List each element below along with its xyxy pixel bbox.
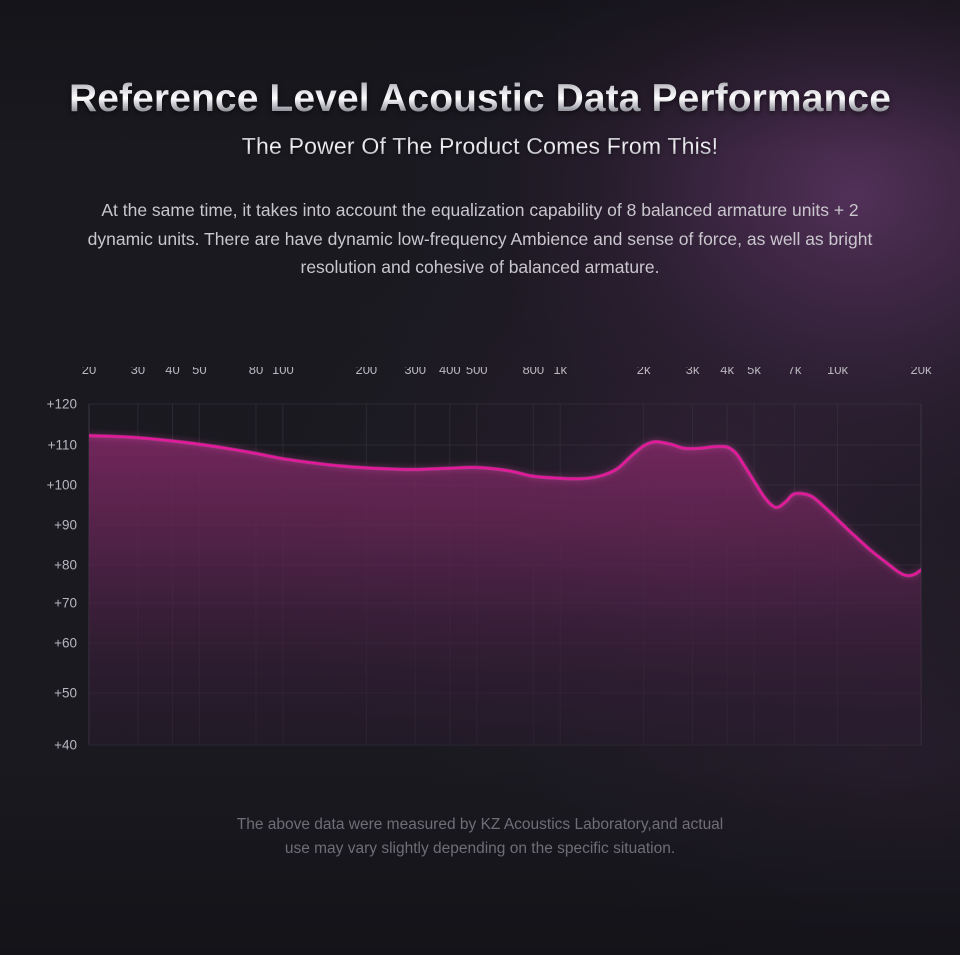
svg-text:+70: +70 xyxy=(54,596,77,611)
chart-svg: 20304050801002003004005008001k2k3k4k5k7k… xyxy=(0,367,960,767)
svg-text:400: 400 xyxy=(439,367,461,377)
page-title: Reference Level Acoustic Data Performanc… xyxy=(0,78,960,119)
footnote-line-2: use may vary slightly depending on the s… xyxy=(160,837,800,861)
svg-text:3k: 3k xyxy=(686,367,700,377)
svg-text:200: 200 xyxy=(355,367,377,377)
page-subtitle: The Power Of The Product Comes From This… xyxy=(0,133,960,160)
svg-text:7k: 7k xyxy=(788,367,802,377)
svg-text:+40: +40 xyxy=(54,738,77,753)
frequency-response-chart: 20304050801002003004005008001k2k3k4k5k7k… xyxy=(0,367,960,767)
svg-text:+50: +50 xyxy=(54,686,77,701)
page-root: Reference Level Acoustic Data Performanc… xyxy=(0,0,960,955)
svg-text:5k: 5k xyxy=(747,367,761,377)
chart-y-axis-labels: +120+110+100+90+80+70+60+50+40 xyxy=(47,397,77,753)
svg-text:+80: +80 xyxy=(54,558,77,573)
svg-text:20k: 20k xyxy=(911,367,932,377)
svg-text:80: 80 xyxy=(249,367,263,377)
svg-text:100: 100 xyxy=(272,367,294,377)
svg-text:50: 50 xyxy=(192,367,206,377)
svg-text:300: 300 xyxy=(404,367,426,377)
footnote-block: The above data were measured by KZ Acous… xyxy=(160,813,800,860)
chart-x-axis-labels: 20304050801002003004005008001k2k3k4k5k7k… xyxy=(82,367,932,377)
svg-text:500: 500 xyxy=(466,367,488,377)
svg-text:40: 40 xyxy=(165,367,179,377)
description-paragraph: At the same time, it takes into account … xyxy=(80,196,880,281)
svg-text:+90: +90 xyxy=(54,518,77,533)
svg-text:2k: 2k xyxy=(637,367,651,377)
chart-area-fill xyxy=(89,436,921,745)
footnote-line-1: The above data were measured by KZ Acous… xyxy=(160,813,800,837)
svg-text:20: 20 xyxy=(82,367,96,377)
svg-text:+120: +120 xyxy=(47,397,77,412)
svg-text:10k: 10k xyxy=(827,367,848,377)
svg-text:800: 800 xyxy=(522,367,544,377)
svg-text:+100: +100 xyxy=(47,478,77,493)
svg-text:4k: 4k xyxy=(720,367,734,377)
svg-text:1k: 1k xyxy=(553,367,567,377)
svg-text:+60: +60 xyxy=(54,636,77,651)
header-block: Reference Level Acoustic Data Performanc… xyxy=(0,0,960,281)
svg-text:+110: +110 xyxy=(48,438,77,453)
svg-text:30: 30 xyxy=(131,367,145,377)
